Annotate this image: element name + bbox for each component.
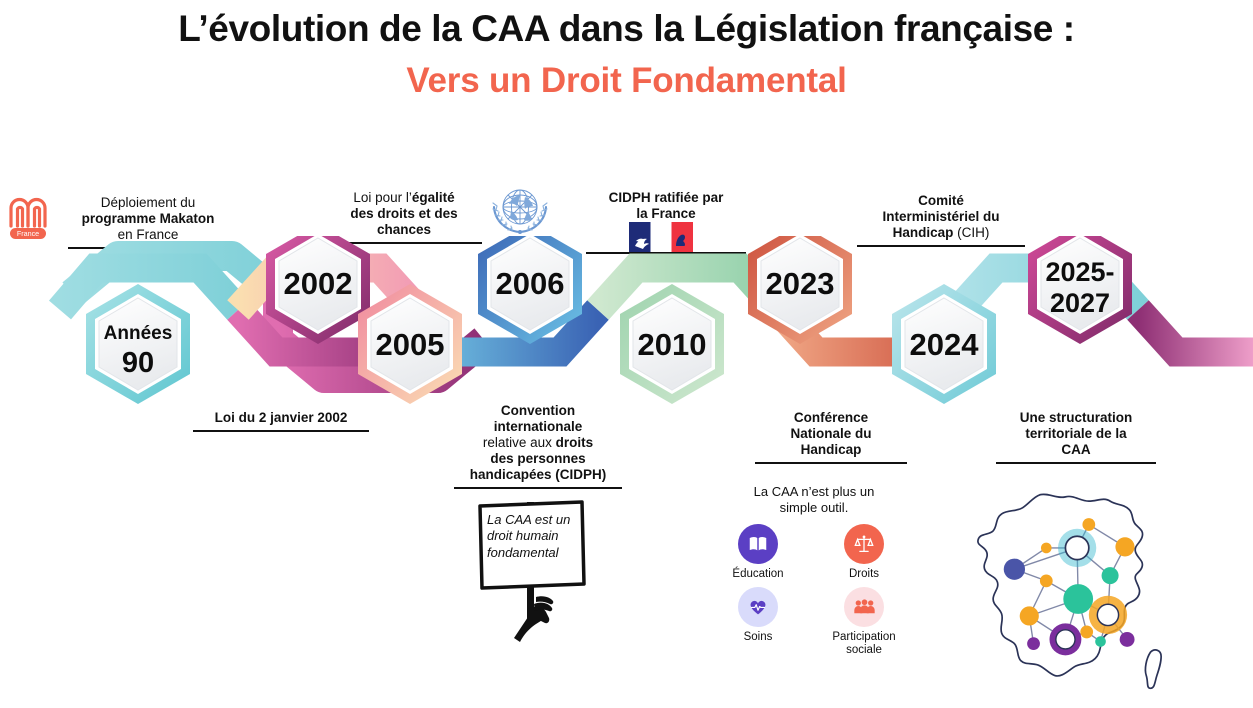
title-line-2: Vers un Droit Fondamental — [0, 61, 1253, 100]
open-book-icon — [738, 524, 778, 564]
protest-sign-l2: droit humain — [487, 528, 583, 544]
label-makaton-l1: Déploiement du — [101, 195, 196, 210]
label-structuration-l1: Une structuration — [1020, 410, 1133, 425]
label-convention-rule — [454, 487, 622, 489]
heart-pulse-icon — [738, 587, 778, 627]
icon-cell-education[interactable]: Éducation — [719, 524, 797, 581]
icon-label-participation-l1: Participation — [825, 631, 903, 644]
label-loi-2002: Loi du 2 janvier 2002 — [186, 410, 376, 432]
scales-icon — [844, 524, 884, 564]
icon-row-2: Soins Participation sociale — [716, 587, 906, 657]
label-conference-rule — [755, 462, 907, 464]
icon-cell-soins[interactable]: Soins — [719, 587, 797, 657]
label-conference: Conférence Nationale du Handicap — [742, 410, 920, 464]
title-line-1: L’évolution de la CAA dans la Législatio… — [0, 8, 1253, 49]
label-conference-l1: Conférence — [794, 410, 868, 425]
hex-2024-label: 2024 — [910, 327, 980, 362]
label-egalite-l1a: Loi pour l’ — [353, 190, 412, 205]
label-structuration-l3: CAA — [1061, 442, 1090, 457]
page-title: L’évolution de la CAA dans la Législatio… — [0, 8, 1253, 101]
label-convention-l1: Convention — [501, 403, 575, 418]
infographic-root: L’évolution de la CAA dans la Législatio… — [0, 0, 1253, 708]
conference-note: La CAA n’est plus un simple outil. — [724, 484, 904, 515]
hex-2023-label: 2023 — [766, 266, 835, 301]
protest-sign-l1: La CAA est un — [487, 512, 583, 528]
label-egalite-l2: des droits et des — [350, 206, 457, 221]
label-cih-l1: Comité — [918, 193, 964, 208]
label-convention-l5: handicapées (CIDPH) — [470, 467, 607, 482]
hex-2025-2027-line2: 2027 — [1050, 288, 1110, 318]
label-convention: Convention internationale relative aux d… — [452, 403, 624, 489]
hex-annees-90-line2: 90 — [122, 347, 154, 379]
label-structuration-l2: territoriale de la — [1025, 426, 1126, 441]
hex-2010-label: 2010 — [638, 327, 707, 362]
protest-sign-l3: fondamental — [487, 545, 583, 561]
icon-label-education: Éducation — [719, 568, 797, 581]
hex-2002-label: 2002 — [284, 266, 353, 301]
label-convention-l2: internationale — [494, 419, 583, 434]
france-network-map — [960, 482, 1190, 700]
conference-note-l2: simple outil. — [724, 500, 904, 516]
makaton-france-logo: France — [6, 192, 60, 242]
label-cih-l2: Interministériel du — [882, 209, 999, 224]
label-structuration-rule — [996, 462, 1156, 464]
timeline-ribbon: Années 90 2002 2005 2 — [0, 236, 1253, 426]
label-loi-2002-rule — [193, 430, 369, 432]
label-convention-l4: des personnes — [490, 451, 585, 466]
hex-2005-label: 2005 — [376, 327, 445, 362]
label-cidph-l1: CIDPH ratifiée par — [609, 190, 724, 205]
label-convention-l3a: relative aux — [483, 435, 556, 450]
hex-2025-2027-line1: 2025- — [1045, 257, 1114, 287]
label-convention-l3b: droits — [556, 435, 594, 450]
label-cidph-l2: la France — [636, 206, 695, 221]
hex-2010[interactable]: 2010 — [620, 284, 724, 404]
hex-annees-90[interactable]: Années 90 — [86, 284, 190, 404]
united-nations-emblem — [487, 180, 553, 242]
corsica-outline — [1145, 650, 1161, 688]
icon-label-participation-l2: sociale — [825, 644, 903, 657]
protest-sign-text: La CAA est un droit humain fondamental — [487, 512, 583, 561]
hex-2025-2027[interactable]: 2025- 2027 — [1028, 236, 1132, 344]
icon-cell-droits[interactable]: Droits — [825, 524, 903, 581]
label-structuration: Une structuration territoriale de la CAA — [990, 410, 1162, 464]
hex-annees-90-line1: Années — [104, 323, 173, 344]
label-egalite-l1b: égalité — [412, 190, 455, 205]
hex-2023[interactable]: 2023 — [748, 236, 852, 344]
conference-note-l1: La CAA n’est plus un — [724, 484, 904, 500]
icon-row-1: Éducation Droits — [716, 524, 906, 581]
icon-label-droits: Droits — [825, 568, 903, 581]
label-loi-2002-text: Loi du 2 janvier 2002 — [215, 410, 348, 425]
people-group-icon — [844, 587, 884, 627]
impact-icon-grid: Éducation Droits — [716, 524, 906, 664]
icon-label-soins: Soins — [719, 631, 797, 644]
label-makaton-l2: programme Makaton — [82, 211, 215, 226]
icon-cell-participation[interactable]: Participation sociale — [825, 587, 903, 657]
label-conference-l3: Handicap — [801, 442, 862, 457]
hex-2006-label: 2006 — [496, 266, 565, 301]
label-egalite-l3: chances — [377, 222, 431, 237]
label-conference-l2: Nationale du — [790, 426, 871, 441]
